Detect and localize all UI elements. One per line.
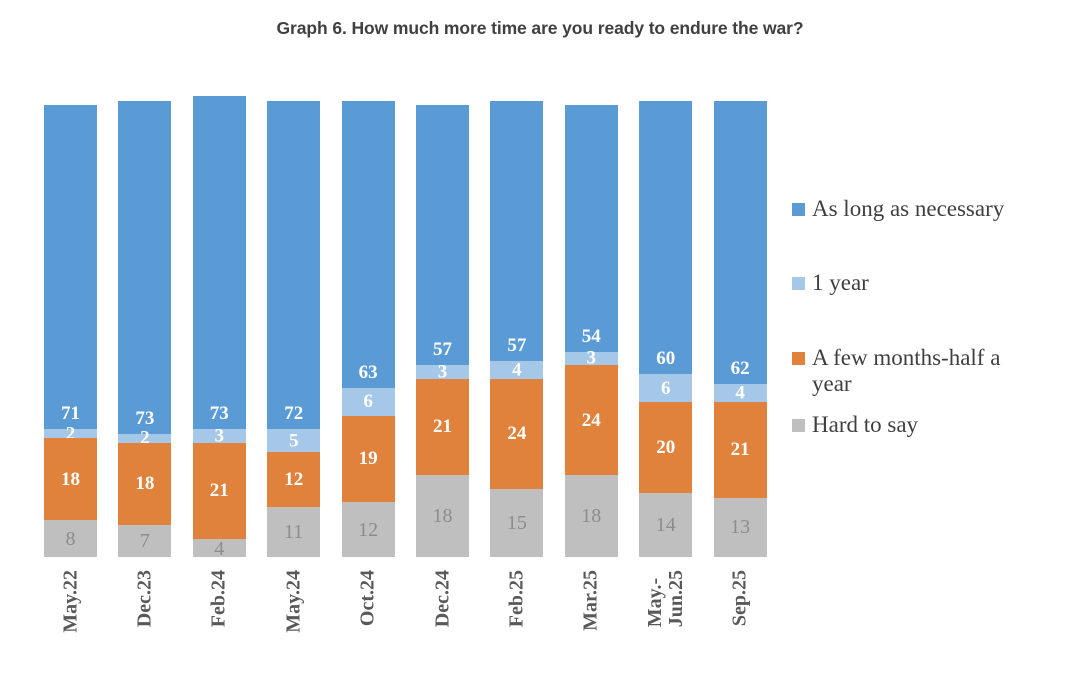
bar-column[interactable]: 6242113 (714, 100, 767, 560)
bar-stack: 712188 (44, 105, 97, 557)
legend-item[interactable]: 1 year (792, 270, 869, 296)
bar-segment-few-months[interactable]: 24 (565, 365, 618, 475)
bar-column[interactable]: 733214 (193, 100, 246, 560)
legend-label: 1 year (812, 270, 869, 296)
bar-segment-as-long-as-necessary[interactable]: 63 (342, 101, 395, 389)
bar-segment-one-year[interactable]: 3 (565, 352, 618, 366)
x-axis-label: Feb.25 (490, 566, 543, 686)
bar-segment-one-year[interactable]: 6 (639, 374, 692, 401)
bar-segment-one-year[interactable]: 2 (44, 429, 97, 438)
bar-segment-as-long-as-necessary[interactable]: 57 (490, 101, 543, 361)
bar-segment-as-long-as-necessary[interactable]: 60 (639, 101, 692, 375)
bar-segment-one-year[interactable]: 6 (342, 388, 395, 415)
bar-segment-value: 11 (284, 522, 303, 542)
bar-column[interactable]: 7251211 (267, 100, 320, 560)
bar-column[interactable]: 5742415 (490, 100, 543, 560)
bar-segment-one-year[interactable]: 4 (490, 361, 543, 379)
bar-segment-value: 60 (656, 349, 675, 368)
x-axis-labels: May.22Dec.23Feb.24May.24Oct.24Dec.24Feb.… (44, 566, 788, 690)
legend-swatch-icon (792, 419, 805, 432)
x-axis-label: Sep.25 (714, 566, 767, 686)
bar-segment-value: 73 (210, 404, 229, 423)
legend-label: A few months-half a year (812, 345, 1044, 398)
bar-segment-value: 21 (433, 417, 452, 436)
legend-label: Hard to say (812, 412, 918, 438)
bar-segment-one-year[interactable]: 4 (714, 384, 767, 402)
bar-segment-value: 57 (433, 340, 452, 359)
bar-stack: 6361912 (342, 101, 395, 557)
bar-segment-value: 6 (363, 392, 373, 411)
bar-segment-value: 4 (214, 539, 224, 559)
legend-item[interactable]: A few months-half a year (792, 345, 1044, 398)
bar-stack: 5732118 (416, 105, 469, 557)
bar-segment-one-year[interactable]: 2 (118, 434, 171, 443)
bar-column[interactable]: 5432418 (565, 100, 618, 560)
bar-segment-value: 63 (359, 363, 378, 382)
x-axis-label: Feb.24 (193, 566, 246, 686)
bar-segment-value: 5 (289, 431, 299, 450)
x-axis-label: Mar.25 (565, 566, 618, 686)
bar-segment-value: 57 (507, 336, 526, 355)
bar-segment-few-months[interactable]: 12 (267, 452, 320, 507)
bar-segment-hard-to-say[interactable]: 18 (416, 475, 469, 557)
bar-segment-hard-to-say[interactable]: 13 (714, 498, 767, 557)
bar-segment-one-year[interactable]: 5 (267, 429, 320, 452)
bar-segment-as-long-as-necessary[interactable]: 71 (44, 105, 97, 429)
chart-title: Graph 6. How much more time are you read… (0, 18, 1080, 39)
bar-column[interactable]: 6062014 (639, 100, 692, 560)
bar-column[interactable]: 732187 (118, 100, 171, 560)
bar-segment-value: 15 (507, 513, 527, 533)
bar-stack: 6062014 (639, 101, 692, 557)
bar-segment-few-months[interactable]: 21 (193, 443, 246, 539)
bar-segment-value: 12 (284, 470, 303, 489)
bar-segment-as-long-as-necessary[interactable]: 62 (714, 101, 767, 384)
bar-column[interactable]: 5732118 (416, 100, 469, 560)
chart-root: Graph 6. How much more time are you read… (0, 0, 1080, 690)
plot-area: 7121887321877332147251211636191257321185… (44, 100, 788, 560)
bar-segment-value: 18 (135, 474, 154, 493)
bar-segment-hard-to-say[interactable]: 8 (44, 520, 97, 557)
bar-stack: 732187 (118, 101, 171, 557)
legend-item[interactable]: Hard to say (792, 412, 918, 438)
bar-segment-hard-to-say[interactable]: 15 (490, 489, 543, 557)
bar-segment-few-months[interactable]: 20 (639, 402, 692, 493)
bar-segment-hard-to-say[interactable]: 11 (267, 507, 320, 557)
bar-segment-value: 18 (61, 470, 80, 489)
legend-swatch-icon (792, 277, 805, 290)
bar-segment-few-months[interactable]: 18 (44, 438, 97, 520)
bar-segment-few-months[interactable]: 21 (714, 402, 767, 498)
x-axis-label: Dec.24 (416, 566, 469, 686)
bar-segment-few-months[interactable]: 21 (416, 379, 469, 475)
bar-segment-value: 7 (140, 531, 150, 551)
x-axis-label: Dec.23 (118, 566, 171, 686)
bar-stack: 5432418 (565, 105, 618, 557)
bar-stack: 5742415 (490, 101, 543, 557)
bar-segment-value: 71 (61, 404, 80, 423)
bar-segment-value: 19 (359, 449, 378, 468)
bar-segment-value: 73 (135, 409, 154, 428)
bar-segment-value: 12 (358, 520, 378, 540)
bar-segment-value: 18 (581, 506, 601, 526)
bar-segment-value: 4 (735, 383, 745, 402)
x-axis-label: May.24 (267, 566, 320, 686)
bar-segment-hard-to-say[interactable]: 7 (118, 525, 171, 557)
legend-label: As long as necessary (812, 196, 1004, 222)
bar-segment-value: 14 (656, 515, 676, 535)
bar-segment-value: 24 (507, 424, 526, 443)
bar-segment-hard-to-say[interactable]: 4 (193, 539, 246, 557)
bar-segment-value: 4 (512, 360, 522, 379)
bar-segment-hard-to-say[interactable]: 14 (639, 493, 692, 557)
bar-stack: 6242113 (714, 101, 767, 557)
legend-item[interactable]: As long as necessary (792, 196, 1004, 222)
bar-segment-as-long-as-necessary[interactable]: 72 (267, 101, 320, 430)
bar-segment-one-year[interactable]: 3 (193, 429, 246, 443)
bar-segment-value: 20 (656, 438, 675, 457)
bar-segment-value: 21 (210, 481, 229, 500)
bar-segment-value: 6 (661, 379, 671, 398)
bar-segment-value: 21 (731, 440, 750, 459)
x-axis-label: May.22 (44, 566, 97, 686)
bar-column[interactable]: 6361912 (342, 100, 395, 560)
bar-segment-few-months[interactable]: 24 (490, 379, 543, 489)
bar-segment-value: 72 (284, 404, 303, 423)
bar-segment-value: 54 (582, 327, 601, 346)
x-axis-label: Oct.24 (342, 566, 395, 686)
bar-stack: 7251211 (267, 101, 320, 557)
bar-segment-value: 62 (731, 359, 750, 378)
bar-segment-as-long-as-necessary[interactable]: 54 (565, 105, 618, 352)
bar-segment-few-months[interactable]: 18 (118, 443, 171, 525)
bar-segment-value: 13 (730, 517, 750, 537)
bar-segment-value: 24 (582, 411, 601, 430)
legend-swatch-icon (792, 203, 805, 216)
bar-column[interactable]: 712188 (44, 100, 97, 560)
bar-segment-as-long-as-necessary[interactable]: 73 (193, 96, 246, 429)
bar-segment-hard-to-say[interactable]: 12 (342, 502, 395, 557)
bar-segment-hard-to-say[interactable]: 18 (565, 475, 618, 557)
bar-stack: 733214 (193, 96, 246, 557)
bar-segment-few-months[interactable]: 19 (342, 416, 395, 503)
bar-segment-value: 8 (66, 529, 76, 549)
bar-segment-as-long-as-necessary[interactable]: 57 (416, 105, 469, 365)
legend-swatch-icon (792, 352, 805, 365)
bar-segment-value: 18 (433, 506, 453, 526)
bar-segment-as-long-as-necessary[interactable]: 73 (118, 101, 171, 434)
bar-segment-one-year[interactable]: 3 (416, 365, 469, 379)
x-axis-label: May.-Jun.25 (639, 566, 692, 686)
